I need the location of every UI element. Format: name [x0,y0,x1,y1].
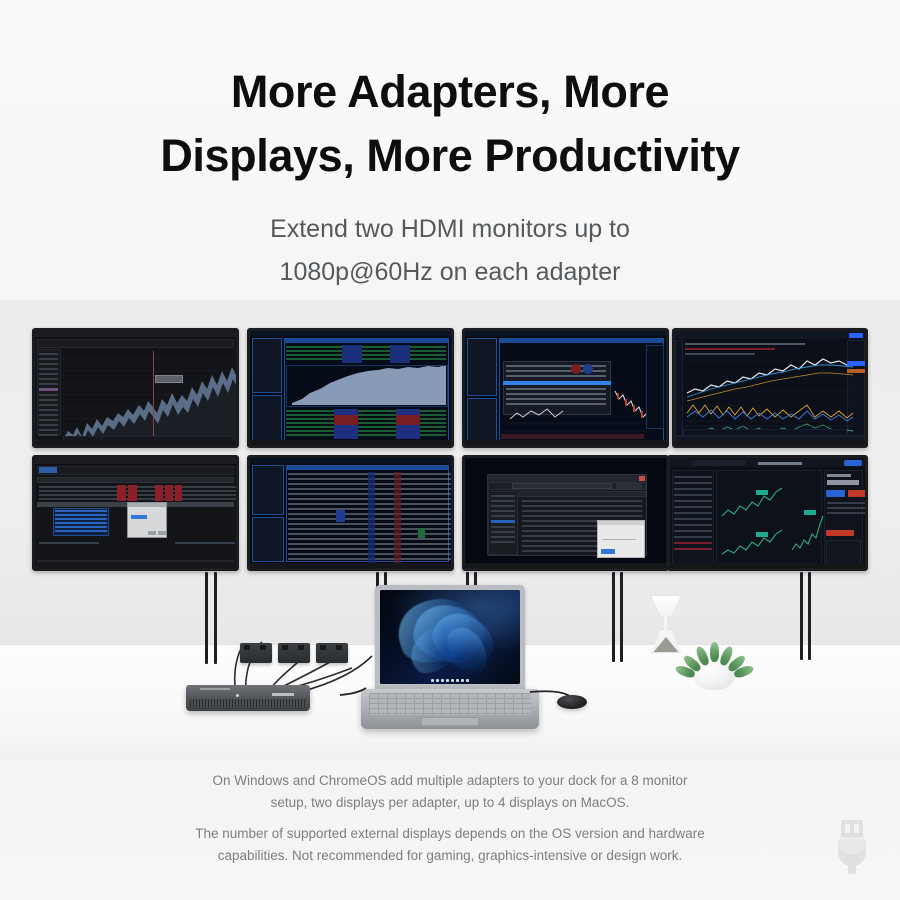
monitor-top-4 [672,328,868,448]
footnote-1-line-2: setup, two displays per adapter, up to 4… [0,792,900,814]
window-titlebar[interactable] [488,475,646,482]
dock-label-strip [272,693,294,696]
x-axis-labels [501,434,644,439]
dialog-list-selection[interactable] [131,515,147,519]
detail-row [55,510,107,512]
taskbar-icon-chat[interactable] [446,679,449,682]
price-tag [756,532,768,537]
candlestick-chart [465,331,666,445]
dialog-titlebar [598,521,644,525]
headline-line-2: Displays, More Productivity [0,124,900,188]
watchlist-panel [252,395,282,441]
quote-row [286,418,446,420]
nav-item-selected[interactable] [491,520,515,523]
detail-row [55,518,107,520]
monitor-top-3 [462,328,669,448]
heat-cell-block [418,528,425,538]
hourglass-neck [664,616,667,630]
heat-cell-block [175,485,182,501]
grid-row [39,498,236,500]
taskbar-icon-settings[interactable] [577,563,580,566]
laptop-screen [380,590,520,684]
hdmi-adapter [278,643,310,663]
hourglass-top-bulb [651,595,681,617]
footnote-1-line-1: On Windows and ChromeOS add multiple ada… [0,770,900,792]
bottom-tab-bar [675,436,865,445]
monitor-screen [250,458,451,568]
grid-row [39,486,236,488]
footnote-2-line-1: The number of supported external display… [0,823,900,845]
price-tag [804,510,816,515]
grid-row [39,542,99,544]
monitor-screen [465,331,666,445]
hourglass-bottom-bulb [651,629,681,653]
right-price-ladder [646,345,664,429]
grid-row [39,494,236,496]
taskbar-icon-settings[interactable] [466,679,469,682]
footnote-2-line-2: capabilities. Not recommended for gaming… [0,845,900,867]
alert-price-tag [847,369,865,373]
price-candles-and-indicators [675,331,865,445]
grid-row [39,490,236,492]
heat-column [394,472,401,564]
promo-image-root: More Adapters, More Displays, More Produ… [0,0,900,900]
watchlist-panel [252,517,284,562]
submit-order-button[interactable] [826,530,854,536]
monitor-stand-pole [808,572,811,660]
footnote-paragraph-1: On Windows and ChromeOS add multiple ada… [0,770,900,814]
app-menu-bar [250,331,451,337]
heat-cell-block [334,415,358,425]
quote-row [286,430,446,432]
monitor-top-2 [247,328,454,448]
bottom-tab [685,440,707,442]
column-header[interactable] [519,491,646,497]
price-tag [756,490,768,495]
dock-status-led [236,694,239,697]
laptop-base [361,689,539,729]
left-nav-panel [252,338,282,393]
monitor-screen [35,458,236,568]
bottom-tab [713,440,735,442]
docking-station [186,685,310,711]
footnote-paragraph-2: The number of supported external display… [0,823,900,867]
properties-dialog[interactable] [597,520,645,558]
status-bar [252,441,286,444]
dialog-text-line [602,539,636,540]
quote-row [286,414,446,416]
laptop-lid [375,585,525,691]
quote-row [286,410,446,412]
plant-pot [692,662,736,690]
taskbar-icon-edge[interactable] [562,563,565,566]
ticker-symbol [827,474,851,477]
dialog-titlebar [128,503,166,507]
heat-column [368,472,375,564]
dialog-ok-button[interactable] [148,531,156,535]
dialog-ok-button[interactable] [601,549,615,554]
search-field[interactable] [616,483,642,489]
monitor-bottom-3 [462,455,669,571]
taskbar-icon-store[interactable] [567,563,570,566]
heat-cell-block [165,485,173,501]
hourglass [651,595,681,653]
heat-cell-block [342,345,362,363]
status-bar [632,440,664,444]
status-bar [37,560,234,566]
dock-vent-grill [190,699,306,708]
plant-leaf [710,642,719,662]
detail-row [55,522,107,524]
quote-row [286,346,446,348]
headline-line-1: More Adapters, More [231,66,669,117]
nav-item[interactable] [491,541,515,543]
monitor-bottom-2 [247,455,454,571]
footnotes: On Windows and ChromeOS add multiple ada… [0,770,900,866]
tree-nav-panel [252,465,284,515]
laptop-keyboard[interactable] [369,693,531,715]
monitor-stand-pole [205,572,208,664]
buy-button[interactable] [826,490,845,497]
taskbar-icon-widgets[interactable] [441,679,444,682]
product-photo-scene [0,300,900,760]
subtitle: Extend two HDMI monitors up to 1080p@60H… [0,208,900,294]
app-menu-bar [35,458,236,465]
chart-time-axis [683,429,847,436]
adapter-port [244,645,250,650]
monitor-stand-pole [800,572,803,660]
adapter-port [336,645,342,650]
adapter-port [320,645,326,650]
windows-11-wallpaper [380,590,520,684]
quote-row [286,422,446,424]
address-bar[interactable] [512,483,612,489]
nav-item[interactable] [491,515,515,517]
taskbar-icon-explorer[interactable] [557,563,560,566]
chart-panel [286,365,448,407]
adapter-port [260,645,266,650]
adapter-port [298,645,304,650]
chart-tooltip [155,375,183,383]
subtitle-line-1: Extend two HDMI monitors up to [270,215,630,243]
chart-x-axis [63,436,234,443]
crosshair-cursor [153,351,154,443]
sell-button[interactable] [848,490,865,497]
quote-row [286,426,446,428]
grid-header [285,339,448,343]
laptop-trackpad[interactable] [421,717,479,726]
order-detail-row [827,512,865,514]
heat-cell-block [336,510,345,522]
laptop-taskbar[interactable] [431,679,469,682]
taskbar-icon-store[interactable] [461,679,464,682]
monitor-screen [465,458,666,568]
taskbar-icon-mail[interactable] [572,563,575,566]
nav-item[interactable] [491,531,515,533]
detail-row [55,514,107,516]
grid-row [175,542,235,544]
succulent-plant [686,638,742,668]
file-row[interactable] [522,500,642,502]
monitor-screen [250,331,451,445]
monitor-top-1 [32,328,239,448]
hdmi-adapter [240,643,272,663]
bottom-tab [769,440,797,442]
taskbar-icon-edge[interactable] [456,679,459,682]
file-row[interactable] [522,515,642,517]
monitor-bottom-1 [32,455,239,571]
heat-cell-block [155,485,163,501]
nav-item[interactable] [491,495,515,497]
app-menu-bar [250,458,451,464]
price-area-chart [35,331,236,445]
taskbar-icon-search[interactable] [552,563,555,566]
usb-connector-icon [830,818,874,876]
nav-item[interactable] [491,505,515,507]
nav-item[interactable] [491,526,515,528]
taskbar-icon-terminal[interactable] [582,563,585,566]
heat-cell-block [396,415,420,425]
monitor-stand-pole [214,572,217,664]
monitor-screen [670,458,865,568]
hdmi-adapter [316,643,348,663]
quote-row [286,354,446,356]
order-detail-row [827,502,865,504]
monitor-screen [35,331,236,445]
detail-row [55,530,107,532]
taskbar-icon-explorer[interactable] [451,679,454,682]
dialog-cancel-button[interactable] [158,531,166,535]
quote-row [286,350,446,352]
dock-label-strip [200,688,230,690]
window-close-button[interactable] [639,476,645,481]
quote-row [286,434,446,436]
system-clock[interactable] [646,563,662,565]
disclaimer-text-block [826,540,861,564]
heat-cell-block [128,485,137,501]
current-price-tag [847,361,865,366]
heat-cell-block [117,485,126,501]
adapter-port [282,645,288,650]
status-bar [286,564,320,567]
app-toolbar [37,466,234,475]
quote-row [286,358,446,360]
heat-cell-block [390,345,410,363]
monitor-stand-pole [620,572,623,662]
settings-dialog[interactable] [127,502,167,538]
file-row[interactable] [522,510,642,512]
nav-item[interactable] [491,500,515,502]
hourglass-sand [654,637,679,652]
taskbar-icon-start[interactable] [431,679,434,682]
file-row[interactable] [522,505,642,507]
order-detail-row [827,507,865,509]
taskbar-icon-start[interactable] [547,563,550,566]
puck-speaker [557,695,587,709]
monitor-bottom-4 [667,455,868,571]
nav-item[interactable] [491,536,515,538]
monitor-stand-pole [612,572,615,662]
taskbar-icon-search[interactable] [436,679,439,682]
page-title: More Adapters, More Displays, More Produ… [0,60,900,189]
subtitle-line-2: 1080p@60Hz on each adapter [0,251,900,294]
monitor-screen [675,331,865,445]
detail-row [55,526,107,528]
active-tab [39,467,57,473]
nav-item[interactable] [491,510,515,512]
grid-header [37,477,234,483]
windows-taskbar[interactable] [547,563,585,566]
grid-header [287,466,448,470]
bottom-tab [741,440,763,442]
ticker-price [827,480,859,485]
